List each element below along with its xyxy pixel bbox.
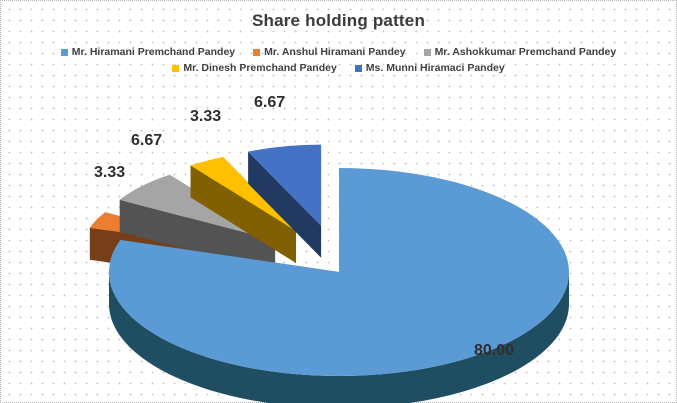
data-label-hiramani: 80.00	[474, 342, 514, 360]
legend-item-label: Mr. Dinesh Premchand Pandey	[183, 60, 336, 76]
chart-title: Share holding patten	[0, 11, 677, 31]
chart-legend: Mr. Hiramani Premchand Pandey Mr. Anshul…	[0, 44, 677, 77]
data-label-anshul: 3.33	[94, 164, 125, 182]
data-label-dinesh: 3.33	[190, 108, 221, 126]
pie-chart-svg	[0, 82, 677, 403]
legend-item-munni[interactable]: Ms. Munni Hiramaci Pandey	[355, 60, 505, 76]
legend-swatch-icon	[172, 65, 179, 72]
chart-container: Share holding patten Mr. Hiramani Premch…	[0, 0, 677, 403]
legend-row: Mr. Hiramani Premchand Pandey Mr. Anshul…	[0, 44, 677, 60]
legend-swatch-icon	[253, 49, 260, 56]
legend-item-anshul[interactable]: Mr. Anshul Hiramani Pandey	[253, 44, 405, 60]
legend-item-dinesh[interactable]: Mr. Dinesh Premchand Pandey	[172, 60, 336, 76]
legend-item-label: Mr. Ashokkumar Premchand Pandey	[435, 44, 617, 60]
legend-item-hiramani[interactable]: Mr. Hiramani Premchand Pandey	[61, 44, 235, 60]
legend-row: Mr. Dinesh Premchand Pandey Ms. Munni Hi…	[0, 60, 677, 76]
data-label-ashokkumar: 6.67	[131, 132, 162, 150]
data-label-munni: 6.67	[254, 94, 285, 112]
legend-item-label: Mr. Anshul Hiramani Pandey	[264, 44, 405, 60]
legend-item-ashokkumar[interactable]: Mr. Ashokkumar Premchand Pandey	[424, 44, 617, 60]
legend-swatch-icon	[355, 65, 362, 72]
legend-item-label: Mr. Hiramani Premchand Pandey	[72, 44, 235, 60]
legend-swatch-icon	[61, 49, 68, 56]
legend-swatch-icon	[424, 49, 431, 56]
pie-chart: 3.33 6.67 3.33 6.67 80.00	[0, 82, 677, 403]
legend-item-label: Ms. Munni Hiramaci Pandey	[366, 60, 505, 76]
